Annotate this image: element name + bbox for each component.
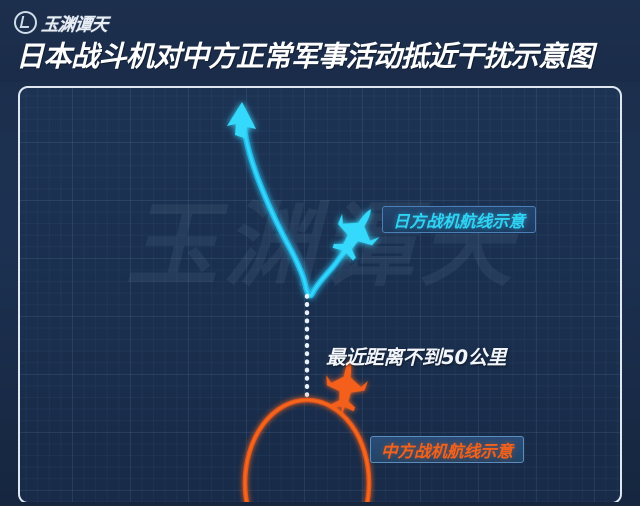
legend-item-jp-route[interactable]: 日方战机航线示意 [382,206,536,233]
header-band: 玉渊谭天 日本战斗机对中方正常军事活动抵近干扰示意图 [0,0,640,82]
jp-fighter-jet-icon [321,198,390,271]
cn-route-track [245,400,369,502]
legend-item-cn-route[interactable]: 中方战机航线示意 [370,436,524,463]
brand-name: 玉渊谭天 [40,9,110,35]
route-diagram [20,88,622,502]
infographic-root: 玉渊谭天 日本战斗机对中方正常军事活动抵近干扰示意图 玉渊谭天 [0,0,640,506]
bottom-strip [0,502,640,506]
page-title: 日本战斗机对中方正常军事活动抵近干扰示意图 [16,40,621,74]
circle-check-logo-icon [14,11,37,34]
distance-annotation: 最近距离不到50公里 [326,341,506,370]
jp-route-track [244,125,356,296]
map-panel: 玉渊谭天 [18,86,622,504]
arrow-up-icon [227,102,256,138]
brand-logo: 玉渊谭天 [14,10,108,34]
